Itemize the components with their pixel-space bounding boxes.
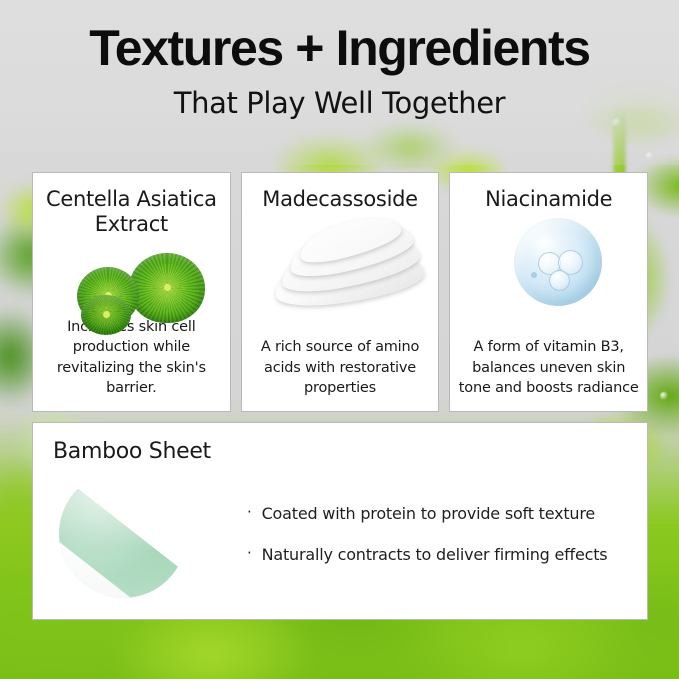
card-description: A form of vitamin B3, balances uneven sk… bbox=[458, 337, 639, 401]
bubble-shape bbox=[531, 272, 537, 278]
water-droplet-decor bbox=[660, 392, 668, 400]
list-item: · Coated with protein to provide soft te… bbox=[247, 504, 607, 523]
card-description: A rich source of amino acids with restor… bbox=[250, 337, 431, 401]
list-item: · Naturally contracts to deliver firming… bbox=[247, 545, 607, 564]
centella-leaves-icon bbox=[41, 237, 222, 317]
card-title: Madecassoside bbox=[262, 187, 418, 212]
list-item-label: Coated with protein to provide soft text… bbox=[262, 504, 595, 523]
infographic-root: Textures + Ingredients That Play Well To… bbox=[0, 0, 679, 679]
bamboo-sheet-panel: Bamboo Sheet · Coated with protein to pr… bbox=[32, 422, 648, 620]
bamboo-gloss-highlight bbox=[59, 470, 187, 598]
card-title: Centella Asiatica Extract bbox=[41, 187, 222, 237]
leaf-shape bbox=[81, 295, 131, 335]
page-title: Textures + Ingredients bbox=[0, 22, 679, 74]
panel-body: · Coated with protein to provide soft te… bbox=[53, 470, 627, 598]
water-droplet-icon bbox=[458, 212, 639, 338]
header-block: Textures + Ingredients That Play Well To… bbox=[0, 22, 679, 120]
list-item-label: Naturally contracts to deliver firming e… bbox=[262, 545, 608, 564]
bullet-marker-icon: · bbox=[247, 545, 252, 562]
bullet-list: · Coated with protein to provide soft te… bbox=[247, 504, 607, 564]
ingredient-card-centella: Centella Asiatica Extract Increases skin… bbox=[32, 172, 231, 412]
bullet-marker-icon: · bbox=[247, 504, 252, 521]
droplet-shape bbox=[514, 218, 602, 306]
card-description: Increases skin cell production while rev… bbox=[41, 317, 222, 401]
cream-swatch-shape bbox=[268, 222, 434, 304]
cream-swatch-icon bbox=[250, 212, 431, 338]
ingredient-card-madecassoside: Madecassoside A rich source of amino aci… bbox=[241, 172, 440, 412]
page-subtitle: That Play Well Together bbox=[0, 86, 679, 120]
card-title: Niacinamide bbox=[485, 187, 612, 212]
bubble-shape bbox=[549, 270, 570, 291]
ingredient-card-grid: Centella Asiatica Extract Increases skin… bbox=[32, 172, 648, 412]
ingredient-card-niacinamide: Niacinamide A form of vitamin B3, balanc… bbox=[449, 172, 648, 412]
bamboo-sheet-circle-icon bbox=[59, 470, 187, 598]
leaf-shape bbox=[129, 253, 205, 323]
panel-title: Bamboo Sheet bbox=[53, 439, 627, 464]
